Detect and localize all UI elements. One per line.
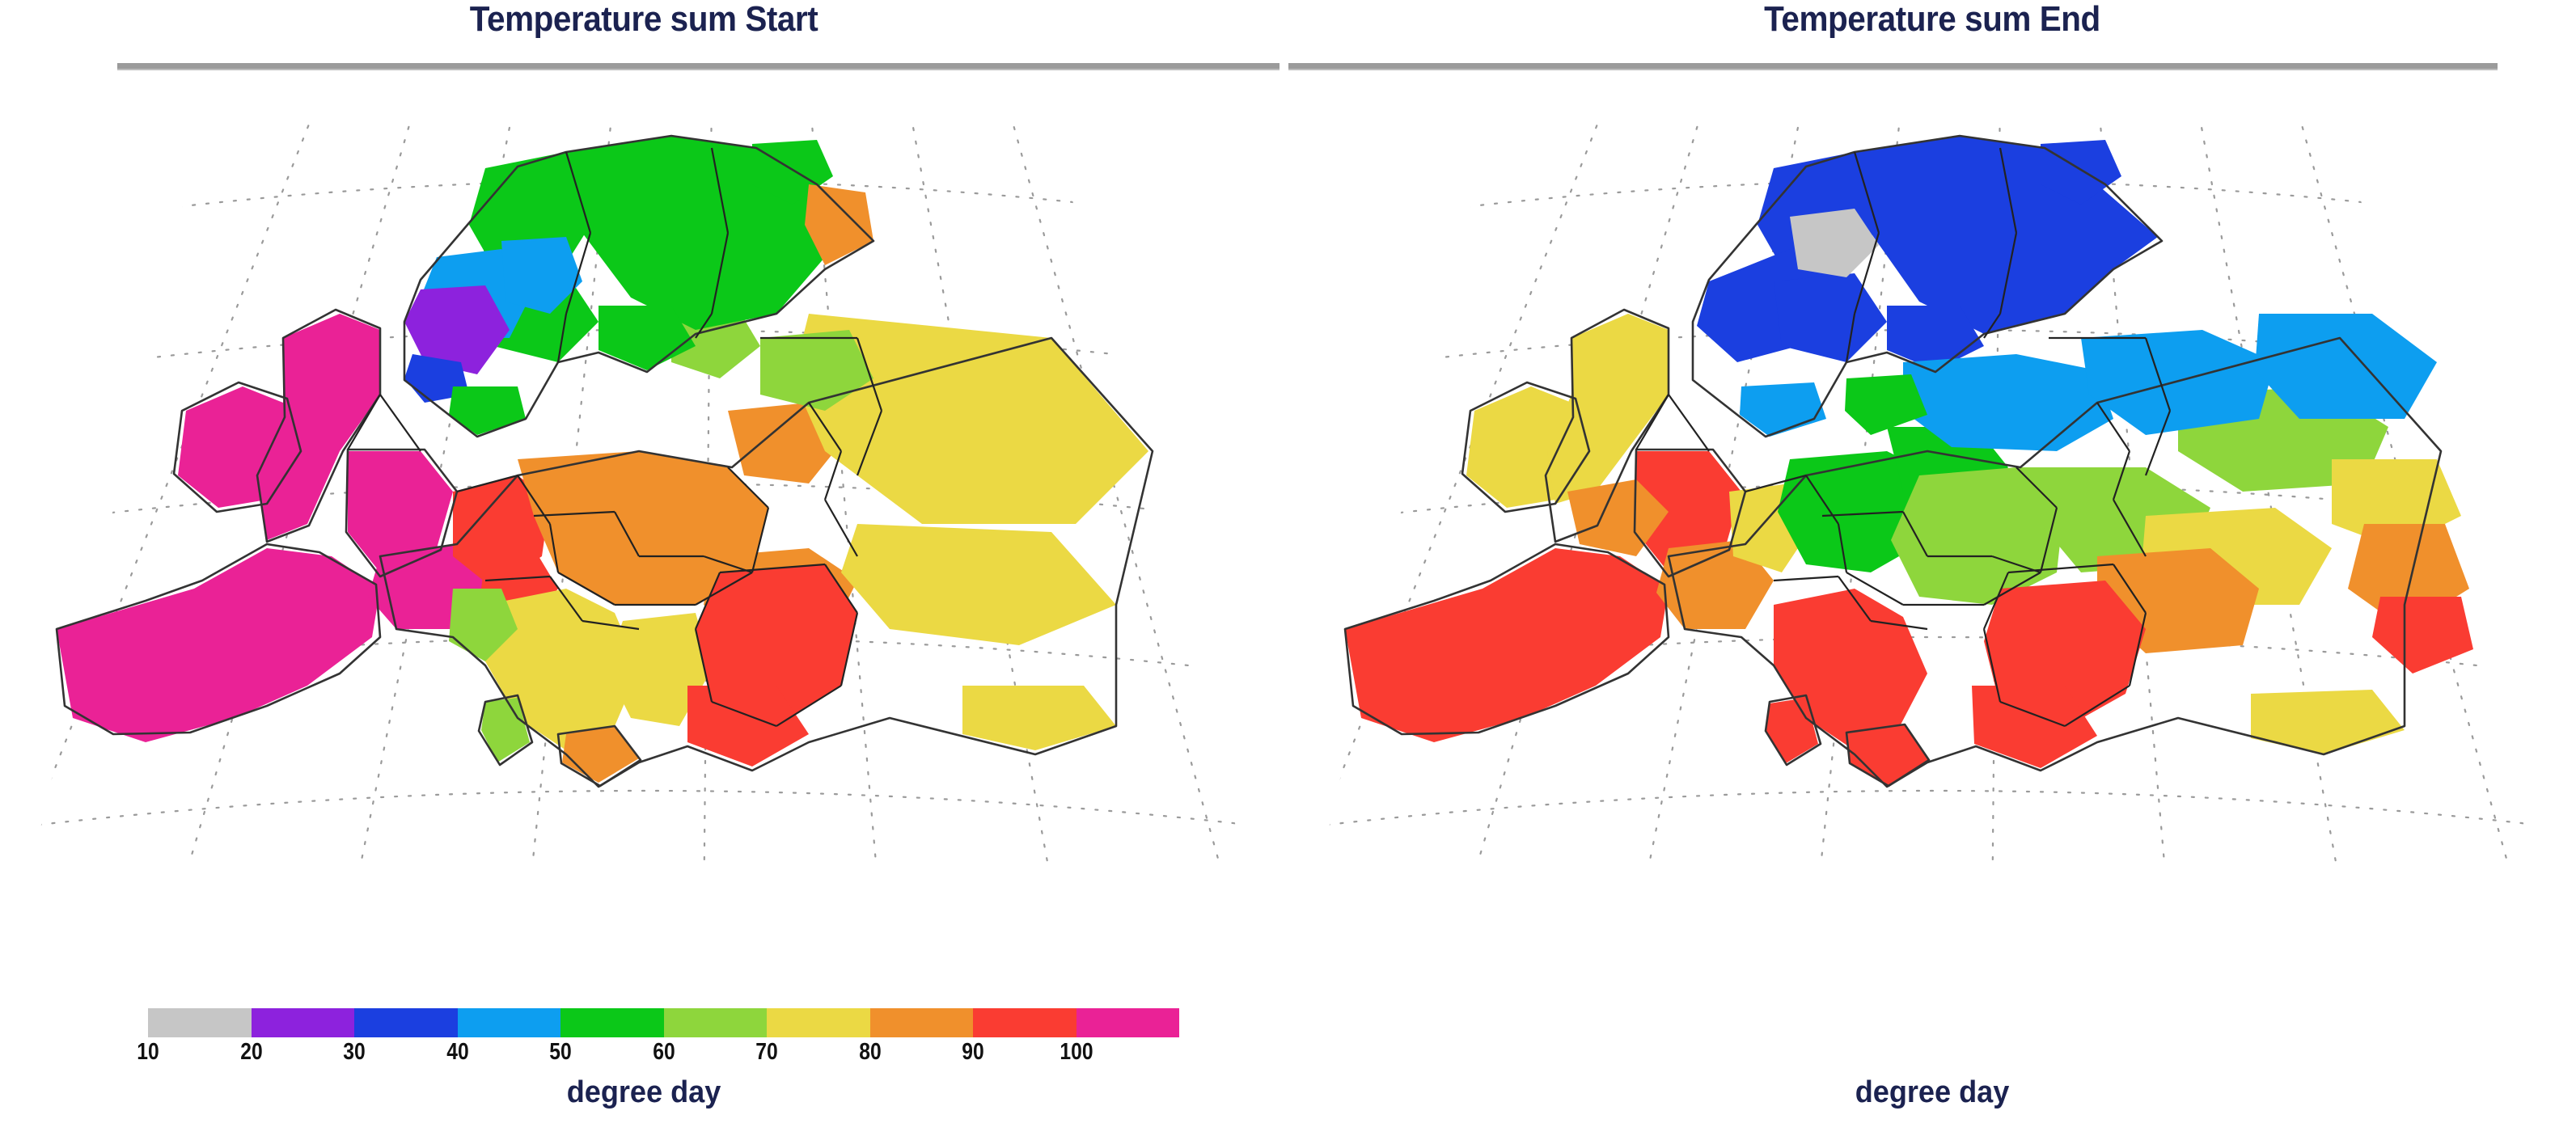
colorbar-segment-yellow	[767, 1008, 870, 1037]
colorbar-segment-red	[973, 1008, 1077, 1037]
map-temperature-sum-start	[0, 71, 1288, 985]
colorbar-segment-magenta	[1077, 1008, 1180, 1037]
colorbar-start	[148, 1008, 1179, 1037]
colorbar-tick-80: 80	[859, 1039, 881, 1066]
page-title-end: Temperature sum End	[1340, 2, 2525, 37]
colorbar-segment-orange	[870, 1008, 974, 1037]
colorbar-title-start: degree day	[32, 1075, 1255, 1110]
colorbar-segment-grey	[148, 1008, 252, 1037]
page-title-start: Temperature sum Start	[52, 2, 1237, 37]
colorbar-segment-light-blue	[458, 1008, 561, 1037]
title-divider-right	[1288, 63, 2498, 70]
panel-temperature-sum-end: Temperature sum End	[1288, 0, 2576, 1136]
colorbar-segment-purple	[252, 1008, 355, 1037]
colorbar-tick-30: 30	[343, 1039, 365, 1066]
colorbar-tick-40: 40	[446, 1039, 468, 1066]
panel-temperature-sum-start: Temperature sum Start	[0, 0, 1288, 1136]
colorbar-segment-blue	[354, 1008, 458, 1037]
colorbar-tick-10: 10	[137, 1039, 159, 1066]
colorbar-title-end: degree day	[1321, 1075, 2544, 1110]
colorbar-tick-90: 90	[962, 1039, 983, 1066]
colorbar-tick-20: 20	[240, 1039, 262, 1066]
title-divider-left	[117, 63, 1280, 70]
colorbar-segment-green	[560, 1008, 664, 1037]
colorbar-segment-yellow-green	[664, 1008, 768, 1037]
map-temperature-sum-end	[1288, 71, 2576, 985]
colorbar-tick-100: 100	[1060, 1039, 1093, 1066]
choropleth-layer	[1345, 136, 2473, 786]
colorbar-tick-70: 70	[755, 1039, 777, 1066]
colorbar-ticks-start: 102030405060708090100	[148, 1039, 1179, 1066]
colorbar-tick-60: 60	[653, 1039, 675, 1066]
colorbar-tick-50: 50	[549, 1039, 571, 1066]
